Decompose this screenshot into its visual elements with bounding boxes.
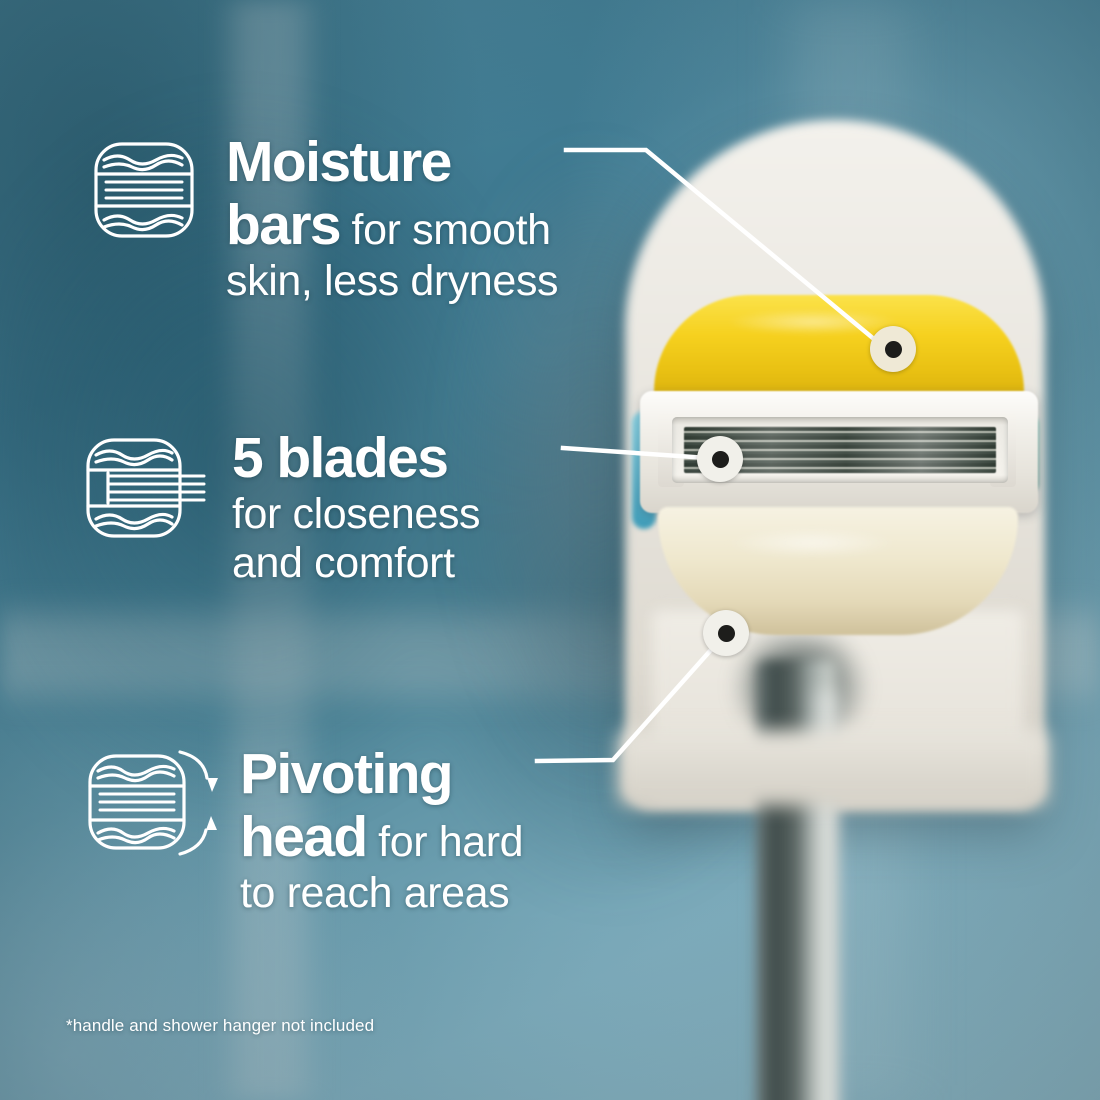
body-inline-pivot: for hard (367, 818, 524, 866)
feature-five-blades: 5 blades for closeness and comfort (78, 430, 480, 585)
headline-head: head (240, 805, 367, 869)
feature-text-five-blades: 5 blades for closeness and comfort (232, 430, 480, 585)
feature-text-moisture-bars: Moisture bars for smooth skin, less dryn… (226, 134, 558, 303)
moisture-bars-icon (84, 130, 204, 255)
body-inline-moisture: for smooth (340, 206, 551, 254)
headline-pivoting: Pivoting (240, 746, 523, 803)
headline-five-blades: 5 blades (232, 430, 480, 487)
footnote-disclaimer: *handle and shower hanger not included (66, 1016, 374, 1036)
product-photo (560, 90, 1100, 1100)
feature-moisture-bars: Moisture bars for smooth skin, less dryn… (84, 130, 558, 303)
headline-moisture: Moisture (226, 134, 558, 191)
callout-dot-center (885, 341, 902, 358)
callout-dot-center (718, 625, 735, 642)
five-blades-icon (78, 430, 210, 553)
body-line2-moisture: skin, less dryness (226, 260, 558, 303)
headline-line2-pivot: head for hard (240, 809, 523, 866)
body-line2-pivot: to reach areas (240, 872, 523, 915)
pivoting-head-icon (80, 742, 220, 873)
body-line2-blades: for closeness (232, 493, 480, 536)
feature-pivoting-head: Pivoting head for hard to reach areas (80, 742, 523, 915)
callout-dot-blades[interactable] (697, 436, 743, 482)
shower-hanger-base (618, 730, 1048, 806)
callout-dot-moisture-bars[interactable] (870, 326, 916, 372)
razor-cartridge (628, 295, 1048, 640)
cream-bar-highlight (702, 523, 922, 563)
feature-text-pivoting-head: Pivoting head for hard to reach areas (240, 746, 523, 915)
body-line3-blades: and comfort (232, 542, 480, 585)
headline-bars: bars (226, 193, 340, 257)
callout-dot-pivoting-head[interactable] (703, 610, 749, 656)
headline-line2-moisture: bars for smooth (226, 197, 558, 254)
infographic-canvas: Moisture bars for smooth skin, less dryn… (0, 0, 1100, 1100)
callout-dot-center (712, 451, 729, 468)
